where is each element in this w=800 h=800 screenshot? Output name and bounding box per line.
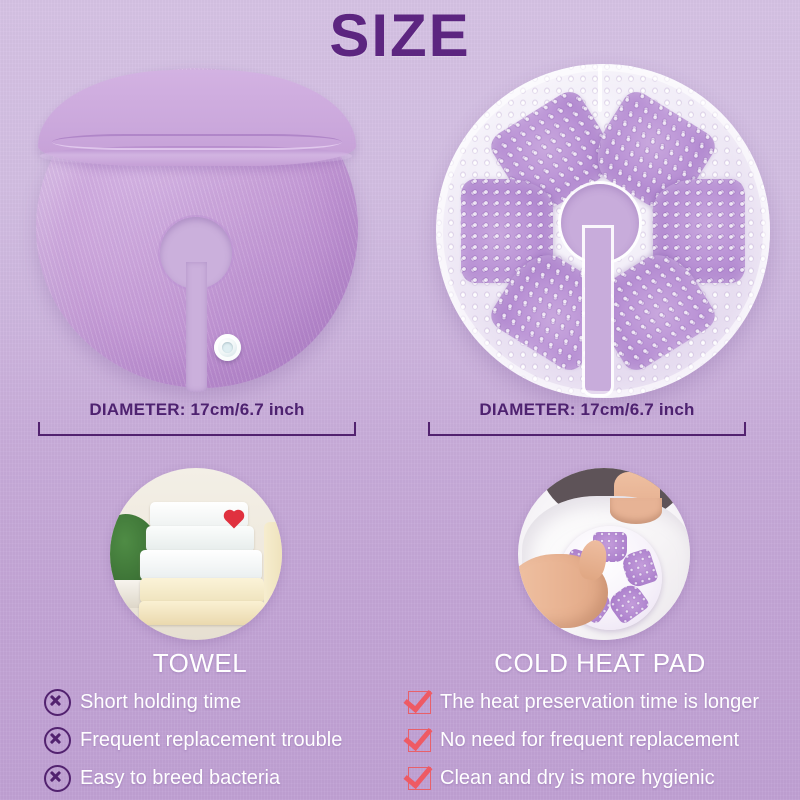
towel-stack — [136, 502, 272, 622]
list-item: No need for frequent replacement — [408, 722, 800, 758]
gel-slit — [585, 228, 611, 394]
list-item-label: Short holding time — [80, 691, 241, 714]
collar-shape — [610, 498, 662, 524]
gel-top-seam — [598, 66, 602, 112]
list-item: Short holding time — [44, 684, 444, 720]
dimension-line — [428, 422, 746, 436]
dimension-label-right: DIAMETER: 17cm/6.7 inch — [428, 400, 746, 420]
comparison-section: TOWEL Short holding time Frequent replac… — [0, 460, 800, 800]
towel-scene — [110, 468, 282, 640]
infographic-page: SIZE — [0, 0, 800, 800]
comparison-column-towel: TOWEL Short holding time Frequent replac… — [0, 460, 400, 800]
cover-seam — [52, 134, 342, 150]
product-stage — [0, 52, 800, 402]
list-item-label: The heat preservation time is longer — [440, 691, 759, 714]
circle-x-icon — [44, 765, 71, 792]
list-item: Clean and dry is more hygienic — [408, 760, 800, 796]
list-item: Frequent replacement trouble — [44, 722, 444, 758]
woman-using-cold-heat-pad-photo — [518, 468, 690, 640]
list-item-label: Easy to breed bacteria — [80, 767, 280, 790]
circle-x-icon — [44, 689, 71, 716]
dimension-label-left: DIAMETER: 17cm/6.7 inch — [38, 400, 356, 420]
towel-item — [139, 601, 265, 625]
list-item-label: Frequent replacement trouble — [80, 729, 342, 752]
checkbox-check-icon — [408, 691, 431, 714]
checkbox-check-icon — [408, 729, 431, 752]
towel-item — [264, 522, 282, 630]
list-item: Easy to breed bacteria — [44, 760, 444, 796]
list-item-label: Clean and dry is more hygienic — [440, 767, 715, 790]
circle-x-icon — [44, 727, 71, 754]
cold-heat-pad-benefit-list: The heat preservation time is longer No … — [400, 684, 800, 798]
body-scene — [518, 468, 690, 640]
towel-item — [146, 526, 254, 552]
comparison-column-cold-heat-pad: COLD HEAT PAD The heat preservation time… — [400, 460, 800, 800]
dimension-bracket-left: DIAMETER: 17cm/6.7 inch — [38, 404, 356, 436]
gel-bead-pad-photo — [430, 56, 780, 406]
plush-velvet-cover-photo — [28, 62, 368, 402]
cover-slit — [186, 262, 207, 392]
checkbox-check-icon — [408, 767, 431, 790]
comparison-heading-towel: TOWEL — [0, 648, 400, 679]
list-item-label: No need for frequent replacement — [440, 729, 739, 752]
towel-item — [140, 550, 262, 580]
list-item: The heat preservation time is longer — [408, 684, 800, 720]
dimension-bracket-right: DIAMETER: 17cm/6.7 inch — [428, 404, 746, 436]
towel-item — [140, 578, 264, 603]
towel-drawback-list: Short holding time Frequent replacement … — [0, 684, 444, 798]
page-title: SIZE — [0, 4, 800, 67]
comparison-heading-cold-heat-pad: COLD HEAT PAD — [400, 648, 800, 679]
dimension-line — [38, 422, 356, 436]
snap-button-icon — [214, 334, 241, 361]
stacked-towels-photo — [110, 468, 282, 640]
